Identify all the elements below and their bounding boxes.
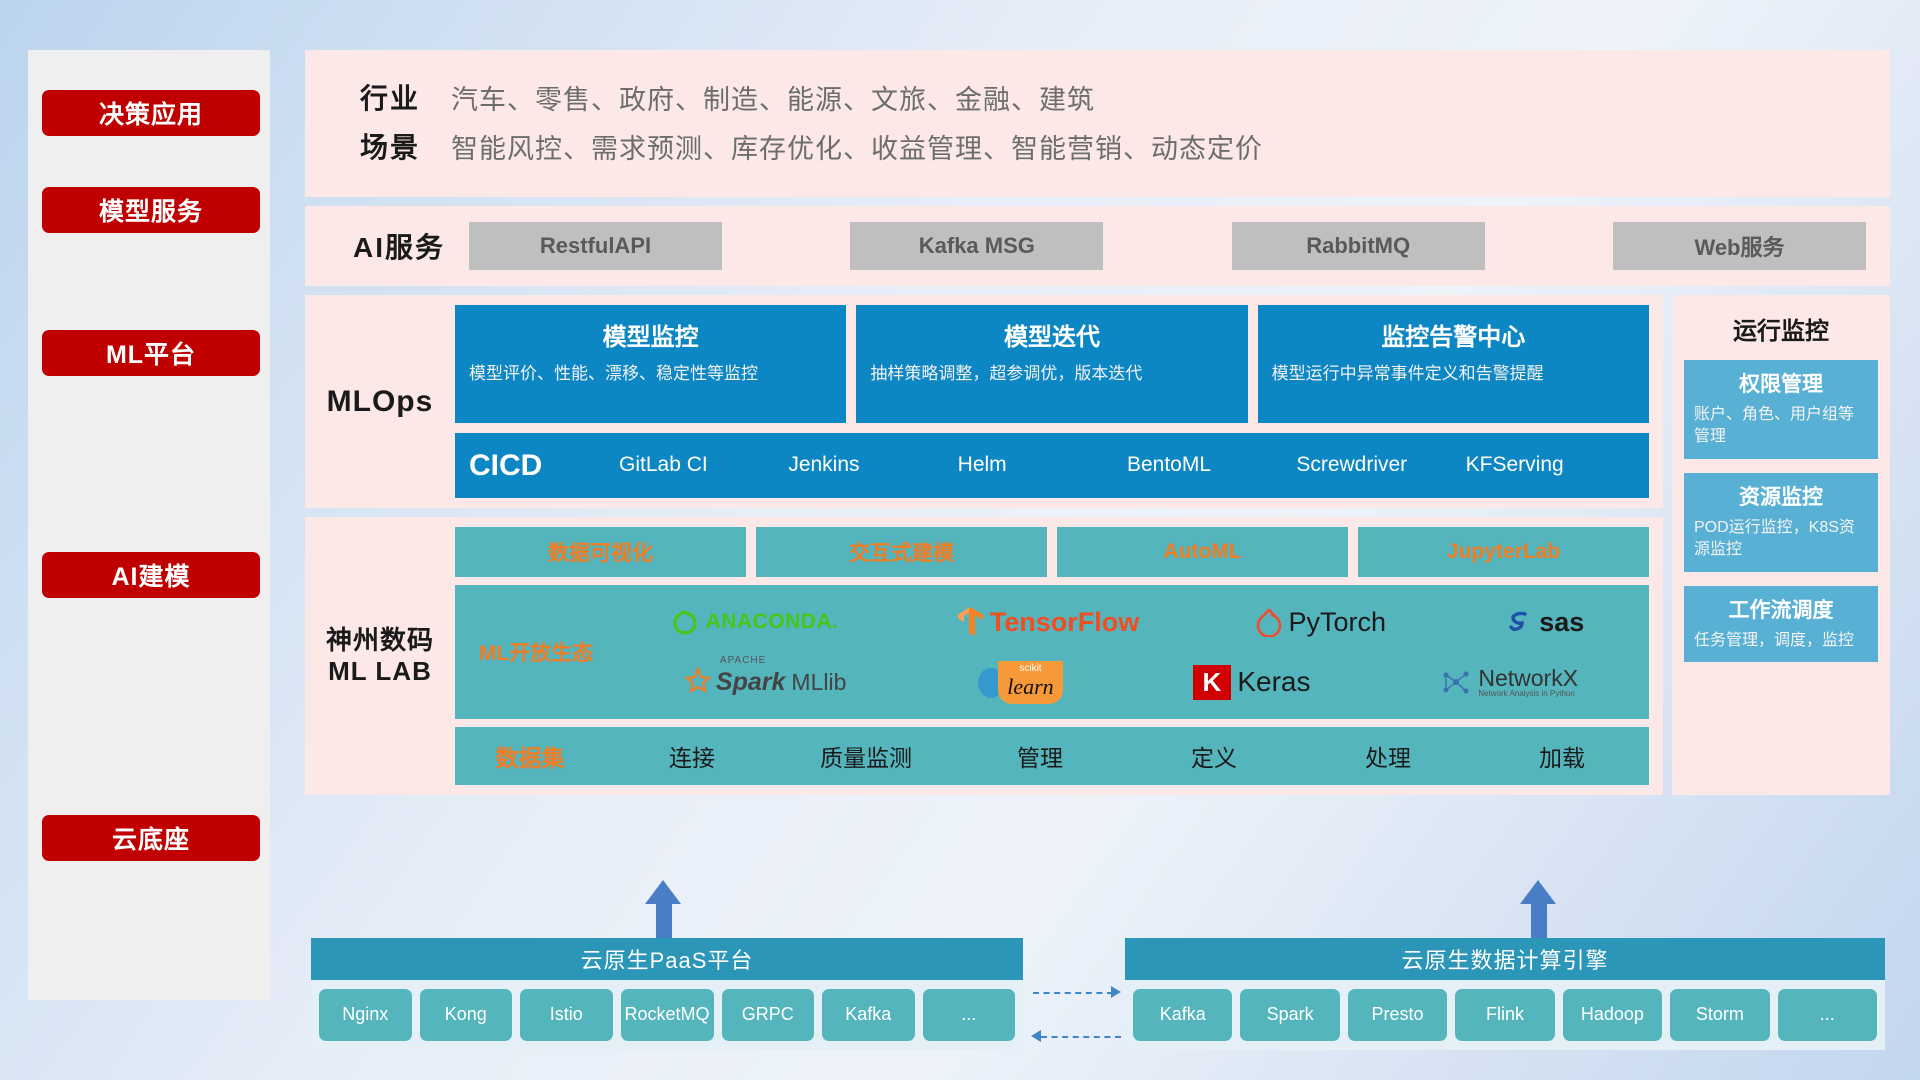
mlops-card-alert-center[interactable]: 监控告警中心 模型运行中异常事件定义和告警提醒 (1258, 305, 1649, 423)
main-architecture-stack: 行业 汽车、零售、政府、制造、能源、文旅、金融、建筑 场景 智能风控、需求预测、… (305, 50, 1890, 795)
industry-label: 行业 (329, 77, 451, 117)
networkx-graph-icon (1440, 667, 1472, 697)
ai-service-chip-kafka-msg[interactable]: Kafka MSG (850, 222, 1103, 270)
spark-mllib-logo: APACHE Spark MLlib (676, 667, 846, 697)
tech-chip-kafka[interactable]: Kafka (822, 989, 915, 1041)
tech-chip-more-engine[interactable]: ... (1778, 989, 1877, 1041)
tech-chip-rocketmq[interactable]: RocketMQ (621, 989, 714, 1041)
mlops-card-model-iteration[interactable]: 模型迭代 抽样策略调整，超参调优，版本迭代 (856, 305, 1247, 423)
tech-chip-more[interactable]: ... (923, 989, 1016, 1041)
sas-logo: sas (1503, 607, 1584, 638)
industry-row: 行业 汽车、零售、政府、制造、能源、文旅、金融、建筑 (329, 77, 1866, 117)
spark-star-icon (676, 667, 710, 697)
dataset-item-load[interactable]: 加载 (1475, 739, 1649, 773)
dataset-label: 数据集 (455, 739, 605, 773)
tech-chip-storm[interactable]: Storm (1670, 989, 1769, 1041)
spark-logo-text: Spark (716, 668, 785, 696)
ai-service-chip-restfulapi[interactable]: RestfulAPI (469, 222, 722, 270)
runtime-monitor-column: 运行监控 权限管理 账户、角色、用户组等管理 资源监控 POD运行监控，K8S资… (1672, 295, 1890, 795)
logo-row-1: ANACONDA. TensorFlow (611, 593, 1643, 651)
ml-open-ecosystem-label: ML开放生态 (461, 637, 611, 667)
architecture-diagram: 决策应用 模型服务 ML平台 AI建模 云底座 行业 汽车、零售、政府、制造、能… (0, 0, 1920, 1080)
cloud-native-paas-block: 云原生PaaS平台 Nginx Kong Istio RocketMQ GRPC… (311, 938, 1023, 1050)
industry-value: 汽车、零售、政府、制造、能源、文旅、金融、建筑 (451, 78, 1095, 117)
tech-chip-kafka-engine[interactable]: Kafka (1133, 989, 1232, 1041)
stage-label-model-service[interactable]: 模型服务 (42, 187, 260, 233)
mlops-card-row: 模型监控 模型评价、性能、漂移、稳定性等监控 模型迭代 抽样策略调整，超参调优，… (455, 305, 1649, 423)
cloud-native-paas-chip-list: Nginx Kong Istio RocketMQ GRPC Kafka ... (311, 980, 1023, 1050)
ai-service-chip-rabbitmq[interactable]: RabbitMQ (1232, 222, 1485, 270)
platform-column: MLOps 模型监控 模型评价、性能、漂移、稳定性等监控 模型迭代 抽样策略调整… (305, 295, 1663, 795)
cicd-label: CICD (469, 449, 619, 483)
cicd-item-helm[interactable]: Helm (958, 453, 1127, 477)
monitor-card-desc: POD运行监控，K8S资源监控 (1694, 517, 1868, 562)
ml-lab-label: 神州数码 ML LAB (305, 527, 455, 785)
scikit-learn-logo: scikit learn (976, 661, 1062, 704)
logo-row-2: APACHE Spark MLlib (611, 653, 1643, 711)
ai-service-chip-list: RestfulAPI Kafka MSG RabbitMQ Web服务 (469, 222, 1866, 270)
stage-label-ml-platform[interactable]: ML平台 (42, 330, 260, 376)
monitor-card-title: 资源监控 (1694, 481, 1868, 511)
cloud-native-paas-title: 云原生PaaS平台 (311, 938, 1023, 980)
tech-chip-hadoop[interactable]: Hadoop (1563, 989, 1662, 1041)
monitor-card-desc: 任务管理，调度，监控 (1694, 630, 1868, 652)
scikit-learn-text: learn (1007, 674, 1053, 700)
mlops-card-title: 模型监控 (469, 317, 832, 352)
mlops-card-title: 模型迭代 (870, 317, 1233, 352)
stage-label-decision-app[interactable]: 决策应用 (42, 90, 260, 136)
anaconda-logo: ANACONDA. (670, 607, 839, 637)
pytorch-icon (1256, 607, 1282, 637)
tech-chip-grpc[interactable]: GRPC (722, 989, 815, 1041)
networkx-logo-text: NetworkX (1478, 667, 1578, 690)
monitor-card-permission[interactable]: 权限管理 账户、角色、用户组等管理 (1684, 360, 1878, 459)
mlops-card-desc: 模型运行中异常事件定义和告警提醒 (1272, 362, 1635, 387)
tech-chip-presto[interactable]: Presto (1348, 989, 1447, 1041)
anaconda-logo-text: ANACONDA. (706, 610, 839, 634)
ml-lab-tab-interactive-modeling[interactable]: 交互式建模 (756, 527, 1047, 577)
scenario-value: 智能风控、需求预测、库存优化、收益管理、智能营销、动态定价 (451, 127, 1263, 166)
pytorch-logo-text: PyTorch (1288, 607, 1386, 638)
tensorflow-icon (956, 606, 984, 638)
scikit-small-text: scikit (1007, 663, 1053, 674)
mlops-label: MLOps (305, 305, 455, 498)
cloud-native-data-engine-chip-list: Kafka Spark Presto Flink Hadoop Storm ..… (1125, 980, 1885, 1050)
scenario-label: 场景 (329, 126, 451, 166)
cicd-item-bentoml[interactable]: BentoML (1127, 453, 1296, 477)
ml-lab-tab-jupyterlab[interactable]: JupyterLab (1358, 527, 1649, 577)
dataset-item-process[interactable]: 处理 (1301, 739, 1475, 773)
ml-lab-card-area: 数据可视化 交互式建模 AutoML JupyterLab ML开放生态 (455, 527, 1649, 785)
networkx-subtitle: Network Analysis in Python (1478, 690, 1578, 698)
keras-k-icon: K (1193, 665, 1232, 700)
tech-chip-istio[interactable]: Istio (520, 989, 613, 1041)
ml-lab-band: 神州数码 ML LAB 数据可视化 交互式建模 AutoML JupyterLa… (305, 517, 1663, 795)
tech-chip-nginx[interactable]: Nginx (319, 989, 412, 1041)
keras-logo-text: Keras (1237, 666, 1310, 698)
cicd-item-list: GitLab CI Jenkins Helm BentoML Screwdriv… (619, 453, 1635, 477)
ai-service-band: AI服务 RestfulAPI Kafka MSG RabbitMQ Web服务 (305, 206, 1890, 286)
mlops-card-model-monitoring[interactable]: 模型监控 模型评价、性能、漂移、稳定性等监控 (455, 305, 846, 423)
cloud-foundation-zone: 云原生PaaS平台 Nginx Kong Istio RocketMQ GRPC… (305, 880, 1890, 1055)
industry-scenario-band: 行业 汽车、零售、政府、制造、能源、文旅、金融、建筑 场景 智能风控、需求预测、… (305, 50, 1890, 197)
cicd-item-kfserving[interactable]: KFServing (1466, 453, 1635, 477)
monitor-card-resource[interactable]: 资源监控 POD运行监控，K8S资源监控 (1684, 473, 1878, 572)
dataset-item-define[interactable]: 定义 (1127, 739, 1301, 773)
ml-open-ecosystem-logo-grid: ANACONDA. TensorFlow (611, 593, 1643, 711)
ai-service-label: AI服务 (329, 226, 469, 266)
cloud-native-data-engine-block: 云原生数据计算引擎 Kafka Spark Presto Flink Hadoo… (1125, 938, 1885, 1050)
platform-and-monitor-split: MLOps 模型监控 模型评价、性能、漂移、稳定性等监控 模型迭代 抽样策略调整… (305, 295, 1890, 795)
stage-label-cloud-base[interactable]: 云底座 (42, 815, 260, 861)
ml-lab-label-line1: 神州数码 (326, 625, 434, 656)
monitor-card-title: 权限管理 (1694, 368, 1868, 398)
monitor-card-title: 工作流调度 (1694, 594, 1868, 624)
ai-service-chip-web-service[interactable]: Web服务 (1613, 222, 1866, 270)
cicd-item-screwdriver[interactable]: Screwdriver (1296, 453, 1465, 477)
mlops-card-area: 模型监控 模型评价、性能、漂移、稳定性等监控 模型迭代 抽样策略调整，超参调优，… (455, 305, 1649, 498)
monitor-card-desc: 账户、角色、用户组等管理 (1694, 404, 1868, 449)
tensorflow-logo-text: TensorFlow (990, 607, 1140, 638)
pytorch-logo: PyTorch (1256, 607, 1386, 638)
mlops-card-desc: 抽样策略调整，超参调优，版本迭代 (870, 362, 1233, 387)
mlops-band: MLOps 模型监控 模型评价、性能、漂移、稳定性等监控 模型迭代 抽样策略调整… (305, 295, 1663, 508)
tensorflow-logo: TensorFlow (956, 606, 1140, 638)
dataset-item-connect[interactable]: 连接 (605, 739, 779, 773)
tech-chip-kong[interactable]: Kong (420, 989, 513, 1041)
ml-lab-tab-automl[interactable]: AutoML (1057, 527, 1348, 577)
scenario-row: 场景 智能风控、需求预测、库存优化、收益管理、智能营销、动态定价 (329, 126, 1866, 166)
cicd-item-jenkins[interactable]: Jenkins (788, 453, 957, 477)
monitor-card-workflow[interactable]: 工作流调度 任务管理，调度，监控 (1684, 586, 1878, 662)
stage-label-ai-modeling[interactable]: AI建模 (42, 552, 260, 598)
mlops-card-desc: 模型评价、性能、漂移、稳定性等监控 (469, 362, 832, 387)
dataset-bar: 数据集 连接 质量监测 管理 定义 处理 加载 (455, 727, 1649, 785)
sas-logo-text: sas (1539, 607, 1584, 638)
runtime-monitor-title: 运行监控 (1684, 311, 1878, 346)
dataset-item-manage[interactable]: 管理 (953, 739, 1127, 773)
keras-logo: K Keras (1193, 665, 1311, 700)
dataset-item-quality[interactable]: 质量监测 (779, 739, 953, 773)
ml-open-ecosystem-panel: ML开放生态 ANACONDA. (455, 585, 1649, 719)
cloud-native-data-engine-title: 云原生数据计算引擎 (1125, 938, 1885, 980)
tech-chip-flink[interactable]: Flink (1455, 989, 1554, 1041)
ml-lab-label-line2: ML LAB (328, 656, 432, 687)
ml-lab-tab-list: 数据可视化 交互式建模 AutoML JupyterLab (455, 527, 1649, 577)
mllib-text: MLlib (791, 669, 846, 696)
mlops-card-title: 监控告警中心 (1272, 317, 1635, 352)
tech-chip-spark[interactable]: Spark (1240, 989, 1339, 1041)
cicd-item-gitlab-ci[interactable]: GitLab CI (619, 453, 788, 477)
networkx-logo: NetworkX Network Analysis in Python (1440, 667, 1578, 698)
anaconda-icon (670, 607, 700, 637)
cicd-bar: CICD GitLab CI Jenkins Helm BentoML Scre… (455, 433, 1649, 498)
sas-icon (1503, 607, 1533, 637)
dataset-item-list: 连接 质量监测 管理 定义 处理 加载 (605, 739, 1649, 773)
ml-lab-tab-data-visualization[interactable]: 数据可视化 (455, 527, 746, 577)
spark-apache-text: APACHE (720, 655, 766, 666)
